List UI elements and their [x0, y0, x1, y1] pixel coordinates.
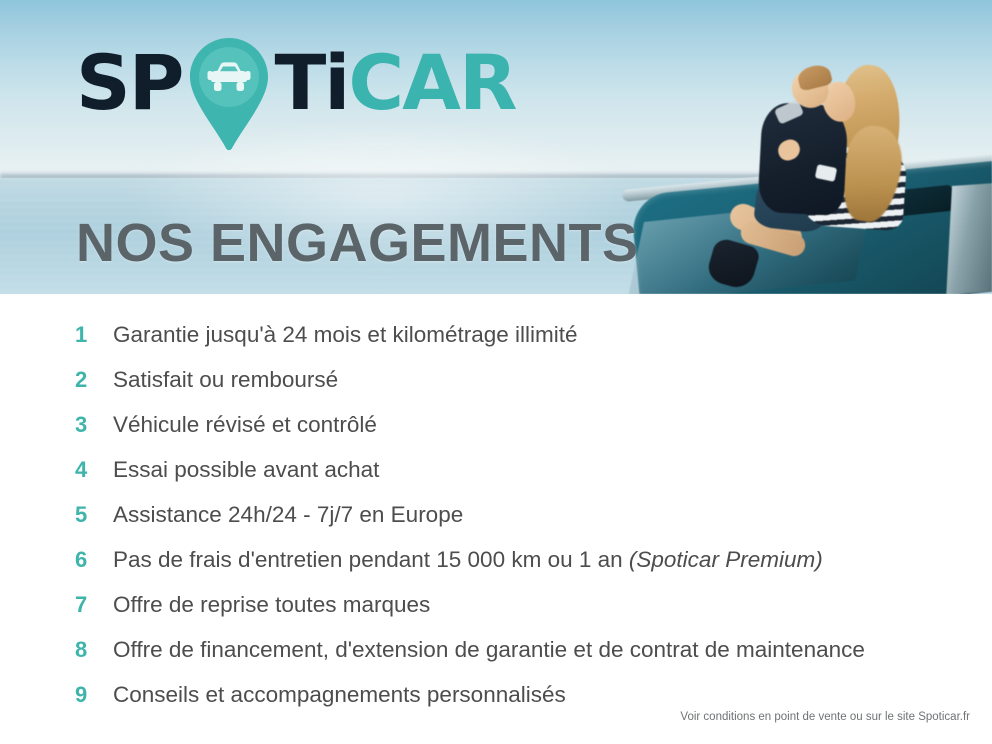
list-item-number: 9	[70, 682, 113, 708]
car-pillar	[946, 183, 992, 294]
list-item-text: Véhicule révisé et contrôlé	[113, 412, 377, 438]
list-item: 6 Pas de frais d'entretien pendant 15 00…	[70, 547, 970, 592]
list-item: 4 Essai possible avant achat	[70, 457, 970, 502]
spoticar-logo[interactable]: SP Ti CAR	[76, 44, 515, 122]
list-item: 7 Offre de reprise toutes marques	[70, 592, 970, 637]
list-item-number: 4	[70, 457, 113, 483]
list-item: 2 Satisfait ou remboursé	[70, 367, 970, 412]
list-item-text: Essai possible avant achat	[113, 457, 379, 483]
list-item: 5 Assistance 24h/24 - 7j/7 en Europe	[70, 502, 970, 547]
list-item-text: Assistance 24h/24 - 7j/7 en Europe	[113, 502, 463, 528]
logo-text-car: CAR	[348, 45, 515, 121]
spoticar-commitments-poster: SP Ti CAR NOS ENGAGEM	[0, 0, 992, 744]
list-item-number: 2	[70, 367, 113, 393]
list-item: 3 Véhicule révisé et contrôlé	[70, 412, 970, 457]
map-pin-car-icon	[182, 44, 274, 122]
list-item-number: 5	[70, 502, 113, 528]
commitments-list: 1 Garantie jusqu'à 24 mois et kilométrag…	[70, 322, 970, 727]
list-item-text: Satisfait ou remboursé	[113, 367, 338, 393]
list-item-number: 3	[70, 412, 113, 438]
list-item: 8 Offre de financement, d'extension de g…	[70, 637, 970, 682]
list-item-emphasis: (Spoticar Premium)	[629, 547, 823, 572]
hero-photo	[600, 0, 992, 294]
list-item-text: Offre de reprise toutes marques	[113, 592, 430, 618]
list-item-number: 8	[70, 637, 113, 663]
list-item-number: 6	[70, 547, 113, 573]
logo-text-sp: SP	[76, 45, 182, 121]
list-item-number: 1	[70, 322, 113, 348]
disclaimer-text: Voir conditions en point de vente ou sur…	[680, 711, 970, 723]
page-title: NOS ENGAGEMENTS	[76, 212, 639, 274]
list-item-text: Conseils et accompagnements personnalisé…	[113, 682, 566, 708]
hero-banner: SP Ti CAR NOS ENGAGEM	[0, 0, 992, 294]
list-item-number: 7	[70, 592, 113, 618]
list-item-text: Pas de frais d'entretien pendant 15 000 …	[113, 547, 823, 573]
list-item: 1 Garantie jusqu'à 24 mois et kilométrag…	[70, 322, 970, 367]
logo-text-ti: Ti	[274, 45, 348, 121]
list-item-text: Offre de financement, d'extension de gar…	[113, 637, 865, 663]
list-item-text: Garantie jusqu'à 24 mois et kilométrage …	[113, 322, 578, 348]
